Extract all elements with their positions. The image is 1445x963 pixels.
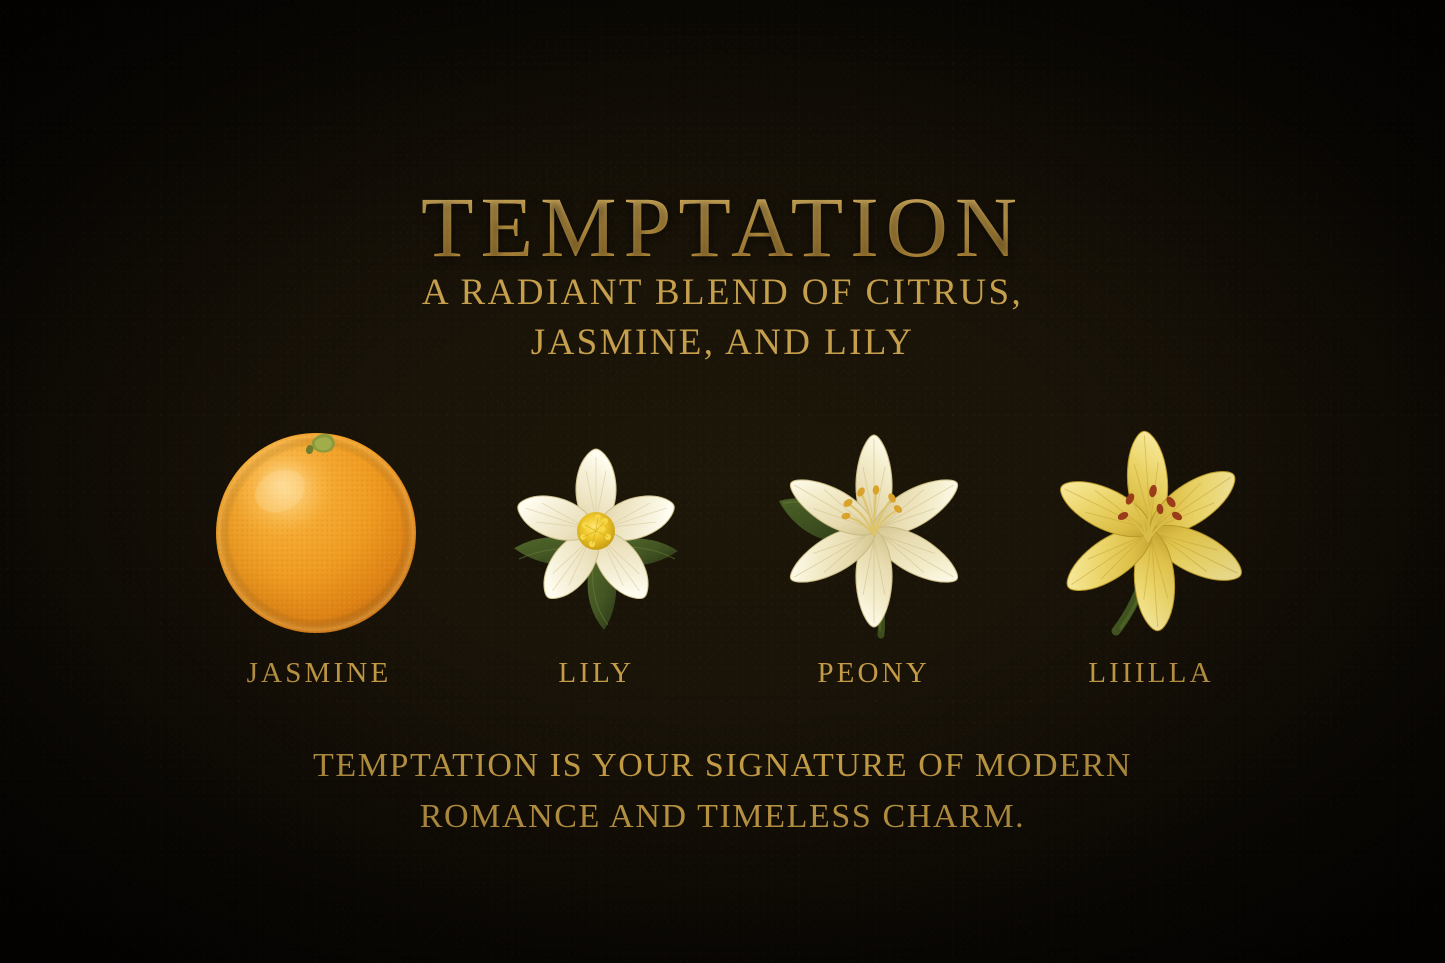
- subtitle: A RADIANT BLEND OF CITRUS, JASMINE, AND …: [0, 268, 1445, 368]
- ingredient-label: PEONY: [817, 657, 930, 690]
- orange-fruit-icon: [196, 419, 442, 649]
- ingredient-label: LILY: [558, 657, 634, 690]
- ingredient-row: JASMINE: [196, 398, 1274, 690]
- poster-stage: TEMPTATION A RADIANT BLEND OF CITRUS, JA…: [0, 0, 1445, 963]
- ingredient-item-jasmine: JASMINE: [196, 398, 442, 690]
- lily-yellow-flower-icon: [1028, 419, 1274, 649]
- lily-cream-flower-icon: [751, 419, 997, 649]
- subtitle-line-2: JASMINE, AND LILY: [0, 318, 1445, 368]
- ingredient-item-liiilla: LIIILLA: [1028, 398, 1274, 690]
- jasmine-flower-icon: [473, 419, 719, 649]
- tagline: TEMPTATION IS YOUR SIGNATURE OF MODERN R…: [0, 740, 1445, 842]
- ingredient-label: JASMINE: [247, 657, 392, 690]
- ingredient-item-lily: LILY: [473, 398, 719, 690]
- subtitle-line-1: A RADIANT BLEND OF CITRUS,: [0, 268, 1445, 318]
- poster-canvas: TEMPTATION A RADIANT BLEND OF CITRUS, JA…: [0, 0, 1445, 963]
- ingredient-label: LIIILLA: [1088, 657, 1213, 690]
- tagline-line-1: TEMPTATION IS YOUR SIGNATURE OF MODERN: [0, 740, 1445, 791]
- ingredient-item-peony: PEONY: [751, 398, 997, 690]
- page-title: TEMPTATION: [0, 184, 1445, 270]
- tagline-line-2: ROMANCE AND TIMELESS CHARM.: [0, 791, 1445, 842]
- jasmine-center: [577, 512, 615, 550]
